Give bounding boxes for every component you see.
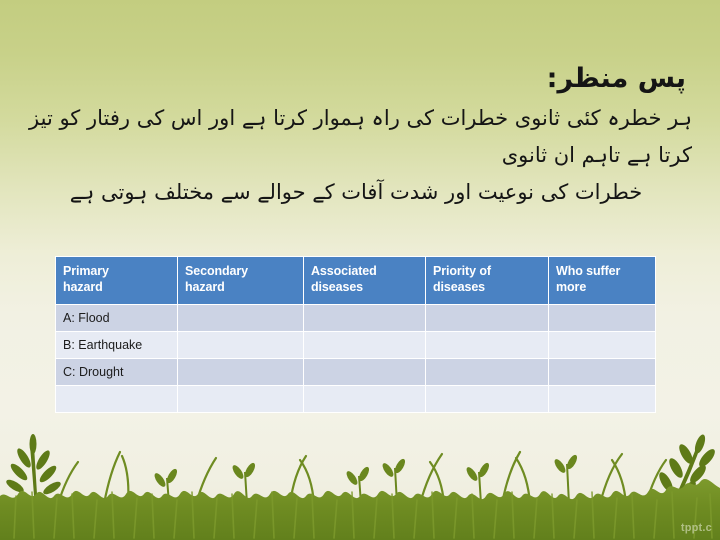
urdu-paragraph-line-2: خطرات کی نوعیت اور شدت آفات کے حوالے سے … — [18, 174, 694, 211]
grass-texture — [14, 492, 712, 538]
cell-secondary-hazard[interactable] — [178, 359, 304, 386]
cell-priority-of-diseases[interactable] — [426, 305, 549, 332]
slide-title: پس منظر: — [18, 58, 694, 100]
column-header-line2: diseases — [311, 279, 425, 295]
column-header-line1: Secondary — [185, 263, 303, 279]
column-header-line2: hazard — [63, 279, 177, 295]
cell-associated-diseases[interactable] — [304, 386, 426, 413]
cell-associated-diseases[interactable] — [304, 305, 426, 332]
cell-who-suffer-more[interactable] — [549, 359, 656, 386]
cell-who-suffer-more[interactable] — [549, 332, 656, 359]
column-header-line2: more — [556, 279, 655, 295]
cell-who-suffer-more[interactable] — [549, 305, 656, 332]
table-row: A: Flood — [56, 305, 656, 332]
cell-primary-hazard[interactable]: C: Drought — [56, 359, 178, 386]
slide-canvas: پس منظر: ہر خطرہ کئی ثانوی خطرات کی راہ … — [0, 0, 720, 540]
cell-primary-hazard[interactable]: B: Earthquake — [56, 332, 178, 359]
sprigs-decoration — [153, 453, 579, 504]
column-header-priority-of-diseases: Priority of diseases — [426, 257, 549, 305]
column-header-primary-hazard: Primary hazard — [56, 257, 178, 305]
column-header-associated-diseases: Associated diseases — [304, 257, 426, 305]
hazard-table: Primary hazard Secondary hazard Associat… — [55, 256, 656, 413]
cell-primary-hazard[interactable]: A: Flood — [56, 305, 178, 332]
cell-primary-hazard[interactable] — [56, 386, 178, 413]
grass-decoration — [0, 400, 720, 540]
column-header-line2: diseases — [433, 279, 548, 295]
column-header-secondary-hazard: Secondary hazard — [178, 257, 304, 305]
table-row — [56, 386, 656, 413]
column-header-line1: Primary — [63, 263, 177, 279]
table-header-row: Primary hazard Secondary hazard Associat… — [56, 257, 656, 305]
cell-priority-of-diseases[interactable] — [426, 332, 549, 359]
cell-secondary-hazard[interactable] — [178, 386, 304, 413]
cell-secondary-hazard[interactable] — [178, 332, 304, 359]
grass-blades — [58, 452, 666, 504]
column-header-line1: Priority of — [433, 263, 548, 279]
urdu-text-block: پس منظر: ہر خطرہ کئی ثانوی خطرات کی راہ … — [18, 58, 694, 211]
cell-priority-of-diseases[interactable] — [426, 359, 549, 386]
column-header-who-suffer-more: Who suffer more — [549, 257, 656, 305]
table-row: B: Earthquake — [56, 332, 656, 359]
watermark-label: tppt.c — [681, 522, 712, 534]
cell-associated-diseases[interactable] — [304, 359, 426, 386]
table-body: A: Flood B: Earthquake C: Drought — [56, 305, 656, 413]
fern-left-icon — [4, 434, 62, 510]
cell-secondary-hazard[interactable] — [178, 305, 304, 332]
grass-silhouette — [0, 479, 720, 540]
table-row: C: Drought — [56, 359, 656, 386]
column-header-line2: hazard — [185, 279, 303, 295]
cell-who-suffer-more[interactable] — [549, 386, 656, 413]
fern-right-icon — [657, 433, 718, 506]
cell-associated-diseases[interactable] — [304, 332, 426, 359]
column-header-line1: Associated — [311, 263, 425, 279]
column-header-line1: Who suffer — [556, 263, 655, 279]
cell-priority-of-diseases[interactable] — [426, 386, 549, 413]
urdu-paragraph-line-1: ہر خطرہ کئی ثانوی خطرات کی راہ ہموار کرت… — [18, 100, 694, 174]
table-header: Primary hazard Secondary hazard Associat… — [56, 257, 656, 305]
